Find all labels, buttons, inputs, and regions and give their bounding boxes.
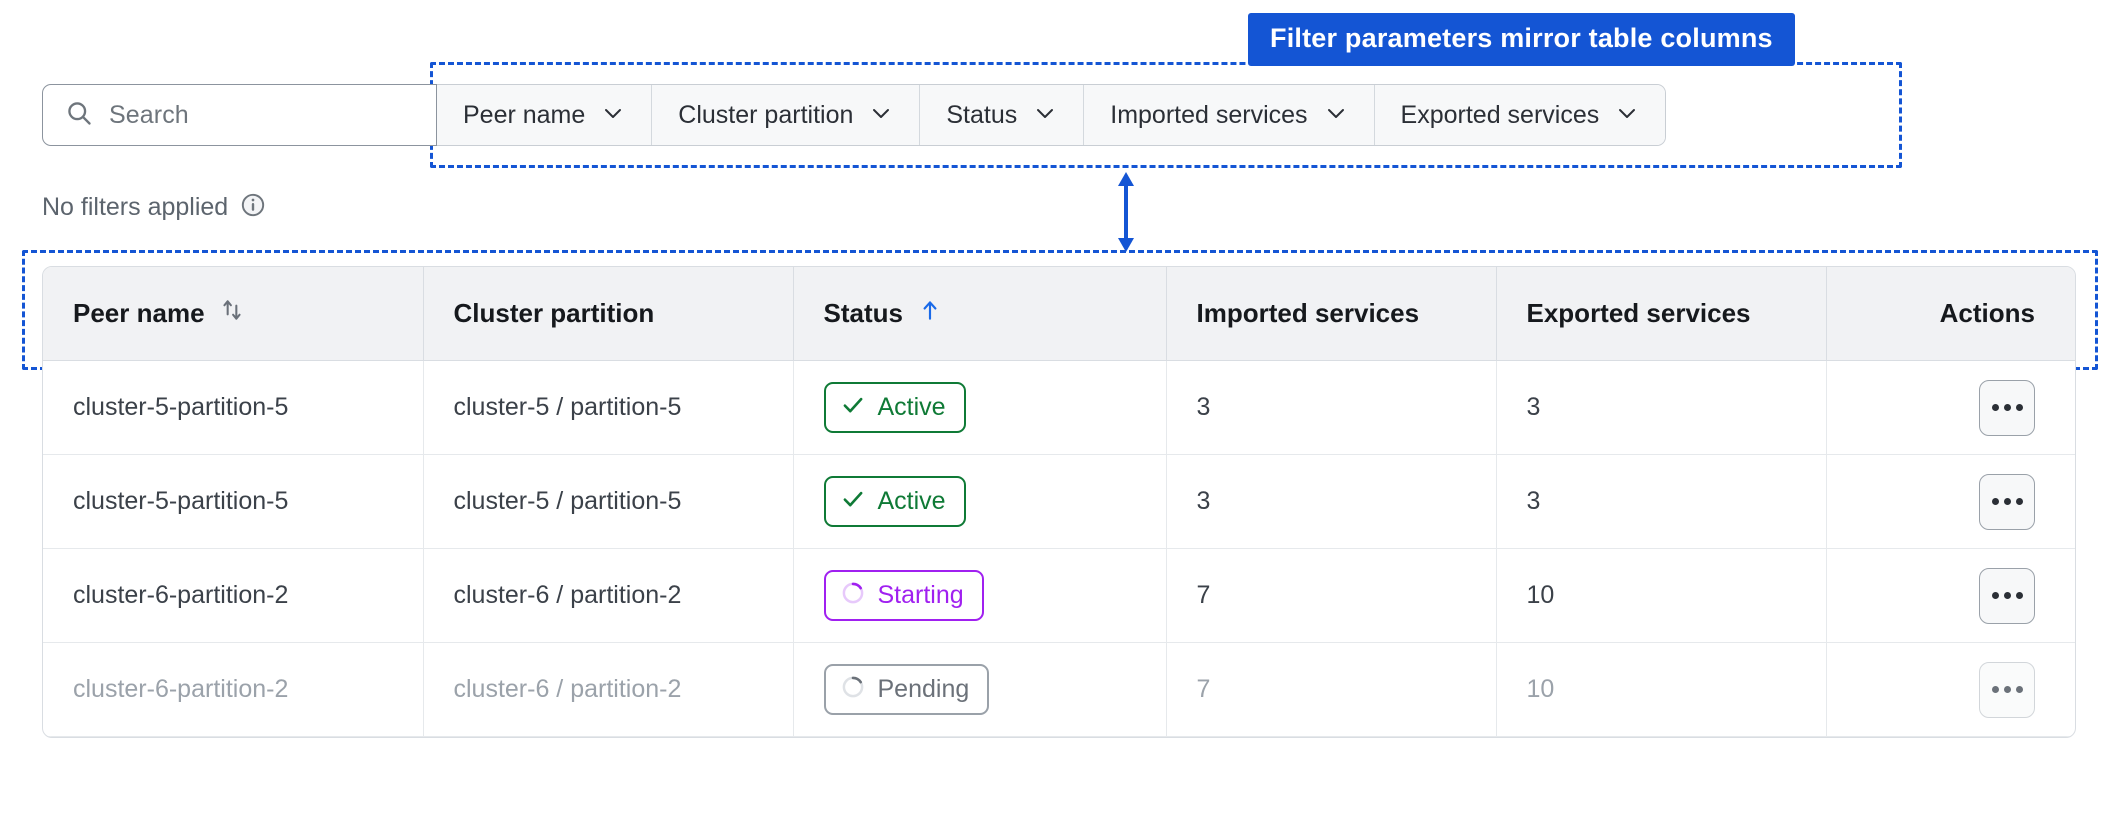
cell-cluster-partition: cluster-5 / partition-5: [423, 455, 793, 549]
status-badge-label: Active: [878, 489, 946, 514]
chevron-down-icon: [601, 101, 625, 130]
cell-status: Active: [793, 361, 1166, 455]
search-placeholder: Search: [109, 101, 189, 130]
peering-table-screen: Filter parameters mirror table columns S…: [0, 0, 2118, 816]
table-row[interactable]: cluster-5-partition-5cluster-5 / partiti…: [43, 361, 2076, 455]
ellipsis-icon: [1992, 686, 1999, 693]
column-header-label: Peer name: [73, 298, 205, 329]
check-icon: [840, 392, 866, 423]
row-actions-button[interactable]: [1979, 474, 2035, 530]
status-badge-label: Pending: [878, 677, 970, 702]
status-badge: Active: [824, 382, 966, 433]
peering-table: Peer name Cluster partition: [42, 266, 2076, 738]
column-header-label: Status: [824, 298, 903, 329]
sort-asc-icon[interactable]: [917, 297, 943, 330]
filter-chip-group: Peer name Cluster partition Status Impor…: [437, 84, 1666, 146]
filter-chip-label: Cluster partition: [678, 101, 853, 130]
ellipsis-icon: [2016, 498, 2023, 505]
check-icon: [840, 486, 866, 517]
sort-both-icon[interactable]: [219, 297, 245, 330]
table-row[interactable]: cluster-6-partition-2cluster-6 / partiti…: [43, 643, 2076, 737]
status-badge-label: Active: [878, 395, 946, 420]
cell-status: Active: [793, 455, 1166, 549]
cell-actions: [1826, 361, 2076, 455]
filter-chip-peer-name[interactable]: Peer name: [437, 85, 652, 145]
cell-peer-name: cluster-5-partition-5: [43, 455, 423, 549]
chevron-down-icon: [1615, 101, 1639, 130]
cell-exported-services: 10: [1496, 643, 1826, 737]
filter-status-label: No filters applied: [42, 193, 228, 222]
filter-chip-label: Peer name: [463, 101, 585, 130]
cell-imported-services: 3: [1166, 361, 1496, 455]
column-header-actions: Actions: [1826, 267, 2076, 361]
row-actions-button[interactable]: [1979, 380, 2035, 436]
cell-imported-services: 3: [1166, 455, 1496, 549]
filter-chip-status[interactable]: Status: [920, 85, 1084, 145]
filter-bar: Search Peer name Cluster partition Statu…: [42, 84, 1666, 146]
cell-actions: [1826, 455, 2076, 549]
annotation-connector-arrow: [1106, 172, 1146, 257]
row-actions-button[interactable]: [1979, 662, 2035, 718]
row-actions-button[interactable]: [1979, 568, 2035, 624]
table-body: cluster-5-partition-5cluster-5 / partiti…: [43, 361, 2076, 737]
ellipsis-icon: [2004, 592, 2011, 599]
cell-cluster-partition: cluster-6 / partition-2: [423, 549, 793, 643]
filter-chip-label: Exported services: [1401, 101, 1600, 130]
cell-imported-services: 7: [1166, 549, 1496, 643]
chevron-down-icon: [869, 101, 893, 130]
column-header-exported-services[interactable]: Exported services: [1496, 267, 1826, 361]
filter-chip-cluster-partition[interactable]: Cluster partition: [652, 85, 920, 145]
ellipsis-icon: [2016, 592, 2023, 599]
filter-chip-label: Imported services: [1110, 101, 1307, 130]
filter-chip-imported-services[interactable]: Imported services: [1084, 85, 1374, 145]
spinner-icon: [840, 580, 866, 611]
spinner-icon: [840, 674, 866, 705]
column-header-cluster-partition[interactable]: Cluster partition: [423, 267, 793, 361]
column-header-imported-services[interactable]: Imported services: [1166, 267, 1496, 361]
filter-status: No filters applied: [42, 192, 266, 223]
column-header-label: Cluster partition: [454, 298, 655, 329]
filter-chip-label: Status: [946, 101, 1017, 130]
column-header-label: Imported services: [1197, 298, 1420, 329]
cell-status: Starting: [793, 549, 1166, 643]
cell-exported-services: 10: [1496, 549, 1826, 643]
status-badge-label: Starting: [878, 583, 964, 608]
cell-peer-name: cluster-6-partition-2: [43, 643, 423, 737]
search-input[interactable]: Search: [42, 84, 437, 146]
table-header-row: Peer name Cluster partition: [43, 267, 2076, 361]
ellipsis-icon: [1992, 498, 1999, 505]
ellipsis-icon: [2016, 404, 2023, 411]
ellipsis-icon: [1992, 592, 1999, 599]
ellipsis-icon: [2016, 686, 2023, 693]
cell-peer-name: cluster-6-partition-2: [43, 549, 423, 643]
ellipsis-icon: [2004, 404, 2011, 411]
filter-chip-exported-services[interactable]: Exported services: [1375, 85, 1666, 145]
cell-exported-services: 3: [1496, 455, 1826, 549]
status-badge: Starting: [824, 570, 984, 621]
status-badge: Active: [824, 476, 966, 527]
status-badge: Pending: [824, 664, 990, 715]
search-icon: [65, 99, 93, 132]
cell-exported-services: 3: [1496, 361, 1826, 455]
cell-cluster-partition: cluster-6 / partition-2: [423, 643, 793, 737]
ellipsis-icon: [2004, 498, 2011, 505]
chevron-down-icon: [1033, 101, 1057, 130]
cell-imported-services: 7: [1166, 643, 1496, 737]
ellipsis-icon: [1992, 404, 1999, 411]
callout-label: Filter parameters mirror table columns: [1248, 13, 1795, 66]
cell-actions: [1826, 549, 2076, 643]
cell-cluster-partition: cluster-5 / partition-5: [423, 361, 793, 455]
column-header-label: Actions: [1940, 298, 2035, 328]
column-header-status[interactable]: Status: [793, 267, 1166, 361]
cell-peer-name: cluster-5-partition-5: [43, 361, 423, 455]
table-row[interactable]: cluster-5-partition-5cluster-5 / partiti…: [43, 455, 2076, 549]
cell-actions: [1826, 643, 2076, 737]
table-row[interactable]: cluster-6-partition-2cluster-6 / partiti…: [43, 549, 2076, 643]
column-header-peer-name[interactable]: Peer name: [43, 267, 423, 361]
info-icon[interactable]: [240, 192, 266, 223]
chevron-down-icon: [1324, 101, 1348, 130]
ellipsis-icon: [2004, 686, 2011, 693]
cell-status: Pending: [793, 643, 1166, 737]
column-header-label: Exported services: [1527, 298, 1751, 329]
